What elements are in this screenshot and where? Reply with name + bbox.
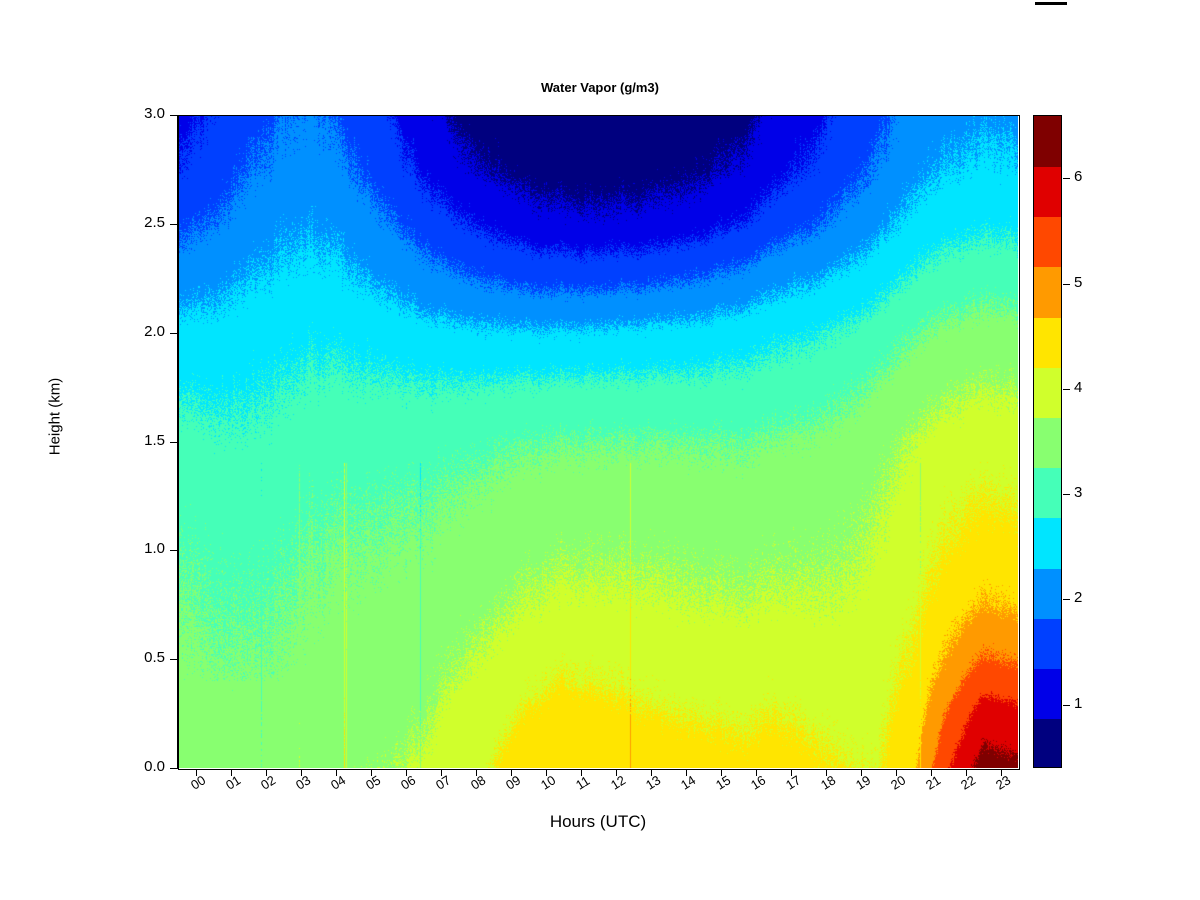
x-tick-label: 14 bbox=[678, 772, 698, 792]
top-edge-artifact bbox=[1035, 2, 1067, 5]
y-tick-label: 2.5 bbox=[105, 214, 165, 231]
colorbar-band bbox=[1034, 568, 1061, 619]
colorbar-band bbox=[1034, 267, 1061, 318]
colorbar-band bbox=[1034, 518, 1061, 569]
x-tick-label: 16 bbox=[748, 772, 768, 792]
x-tick-label: 13 bbox=[643, 772, 663, 792]
x-tick-label: 03 bbox=[293, 772, 313, 792]
x-tick-label: 20 bbox=[888, 772, 908, 792]
colorbar-tick-mark bbox=[1063, 389, 1070, 390]
colorbar-band bbox=[1034, 216, 1061, 267]
x-tick-label: 10 bbox=[538, 772, 558, 792]
x-tick-label: 17 bbox=[783, 772, 803, 792]
y-tick-label: 1.5 bbox=[105, 432, 165, 449]
x-tick-label: 09 bbox=[503, 772, 523, 792]
colorbar-tick-label: 2 bbox=[1074, 589, 1082, 606]
x-axis-line bbox=[178, 769, 1019, 770]
colorbar-tick-label: 5 bbox=[1074, 274, 1082, 291]
colorbar-band bbox=[1034, 367, 1061, 418]
y-tick-label: 1.0 bbox=[105, 540, 165, 557]
colorbar-tick-mark bbox=[1063, 178, 1070, 179]
y-tick-mark bbox=[170, 768, 177, 769]
y-tick-label: 0.5 bbox=[105, 649, 165, 666]
colorbar-tick-mark bbox=[1063, 284, 1070, 285]
x-tick-label: 15 bbox=[713, 772, 733, 792]
colorbar-tick-mark bbox=[1063, 494, 1070, 495]
y-tick-mark bbox=[170, 333, 177, 334]
y-tick-label: 0.0 bbox=[105, 758, 165, 775]
y-tick-mark bbox=[170, 115, 177, 116]
y-tick-label: 2.0 bbox=[105, 323, 165, 340]
colorbar-band bbox=[1034, 618, 1061, 669]
x-tick-label: 23 bbox=[993, 772, 1013, 792]
colorbar-tick-label: 3 bbox=[1074, 484, 1082, 501]
y-tick-mark bbox=[170, 224, 177, 225]
x-axis-label: Hours (UTC) bbox=[178, 812, 1018, 832]
x-tick-label: 00 bbox=[188, 772, 208, 792]
colorbar-band bbox=[1034, 116, 1061, 167]
colorbar-band bbox=[1034, 317, 1061, 368]
x-tick-label: 11 bbox=[573, 773, 592, 793]
x-tick-label: 12 bbox=[608, 772, 628, 792]
x-tick-label: 06 bbox=[398, 772, 418, 792]
page-title: Water Vapor (g/m3) bbox=[0, 80, 1200, 95]
heatmap-plot-area[interactable] bbox=[178, 115, 1018, 768]
colorbar-band bbox=[1034, 468, 1061, 519]
x-tick-label: 19 bbox=[853, 772, 873, 792]
y-tick-label: 3.0 bbox=[105, 105, 165, 122]
y-tick-mark bbox=[170, 442, 177, 443]
x-tick-label: 08 bbox=[468, 772, 488, 792]
x-tick-label: 01 bbox=[223, 772, 243, 792]
colorbar-tick-label: 6 bbox=[1074, 168, 1082, 185]
y-axis-line bbox=[177, 115, 178, 769]
water-vapor-figure: Water Vapor (g/m3) 0.00.51.01.52.02.53.0… bbox=[0, 0, 1200, 900]
x-tick-label: 05 bbox=[363, 772, 383, 792]
y-tick-mark bbox=[170, 550, 177, 551]
y-tick-mark bbox=[170, 659, 177, 660]
colorbar-tick-label: 1 bbox=[1074, 695, 1082, 712]
colorbar-tick-label: 4 bbox=[1074, 379, 1082, 396]
x-tick-label: 02 bbox=[258, 772, 278, 792]
x-tick-label: 22 bbox=[958, 772, 978, 792]
colorbar-band bbox=[1034, 719, 1061, 768]
x-tick-label: 07 bbox=[433, 772, 453, 792]
x-tick-label: 04 bbox=[328, 772, 348, 792]
colorbar-band bbox=[1034, 417, 1061, 468]
y-axis-label: Height (km) bbox=[47, 337, 64, 497]
colorbar-tick-mark bbox=[1063, 705, 1070, 706]
colorbar-band bbox=[1034, 166, 1061, 217]
x-tick-label: 21 bbox=[923, 772, 943, 792]
colorbar-band bbox=[1034, 669, 1061, 720]
x-tick-label: 18 bbox=[818, 772, 838, 792]
colorbar[interactable] bbox=[1033, 115, 1062, 768]
colorbar-tick-mark bbox=[1063, 599, 1070, 600]
